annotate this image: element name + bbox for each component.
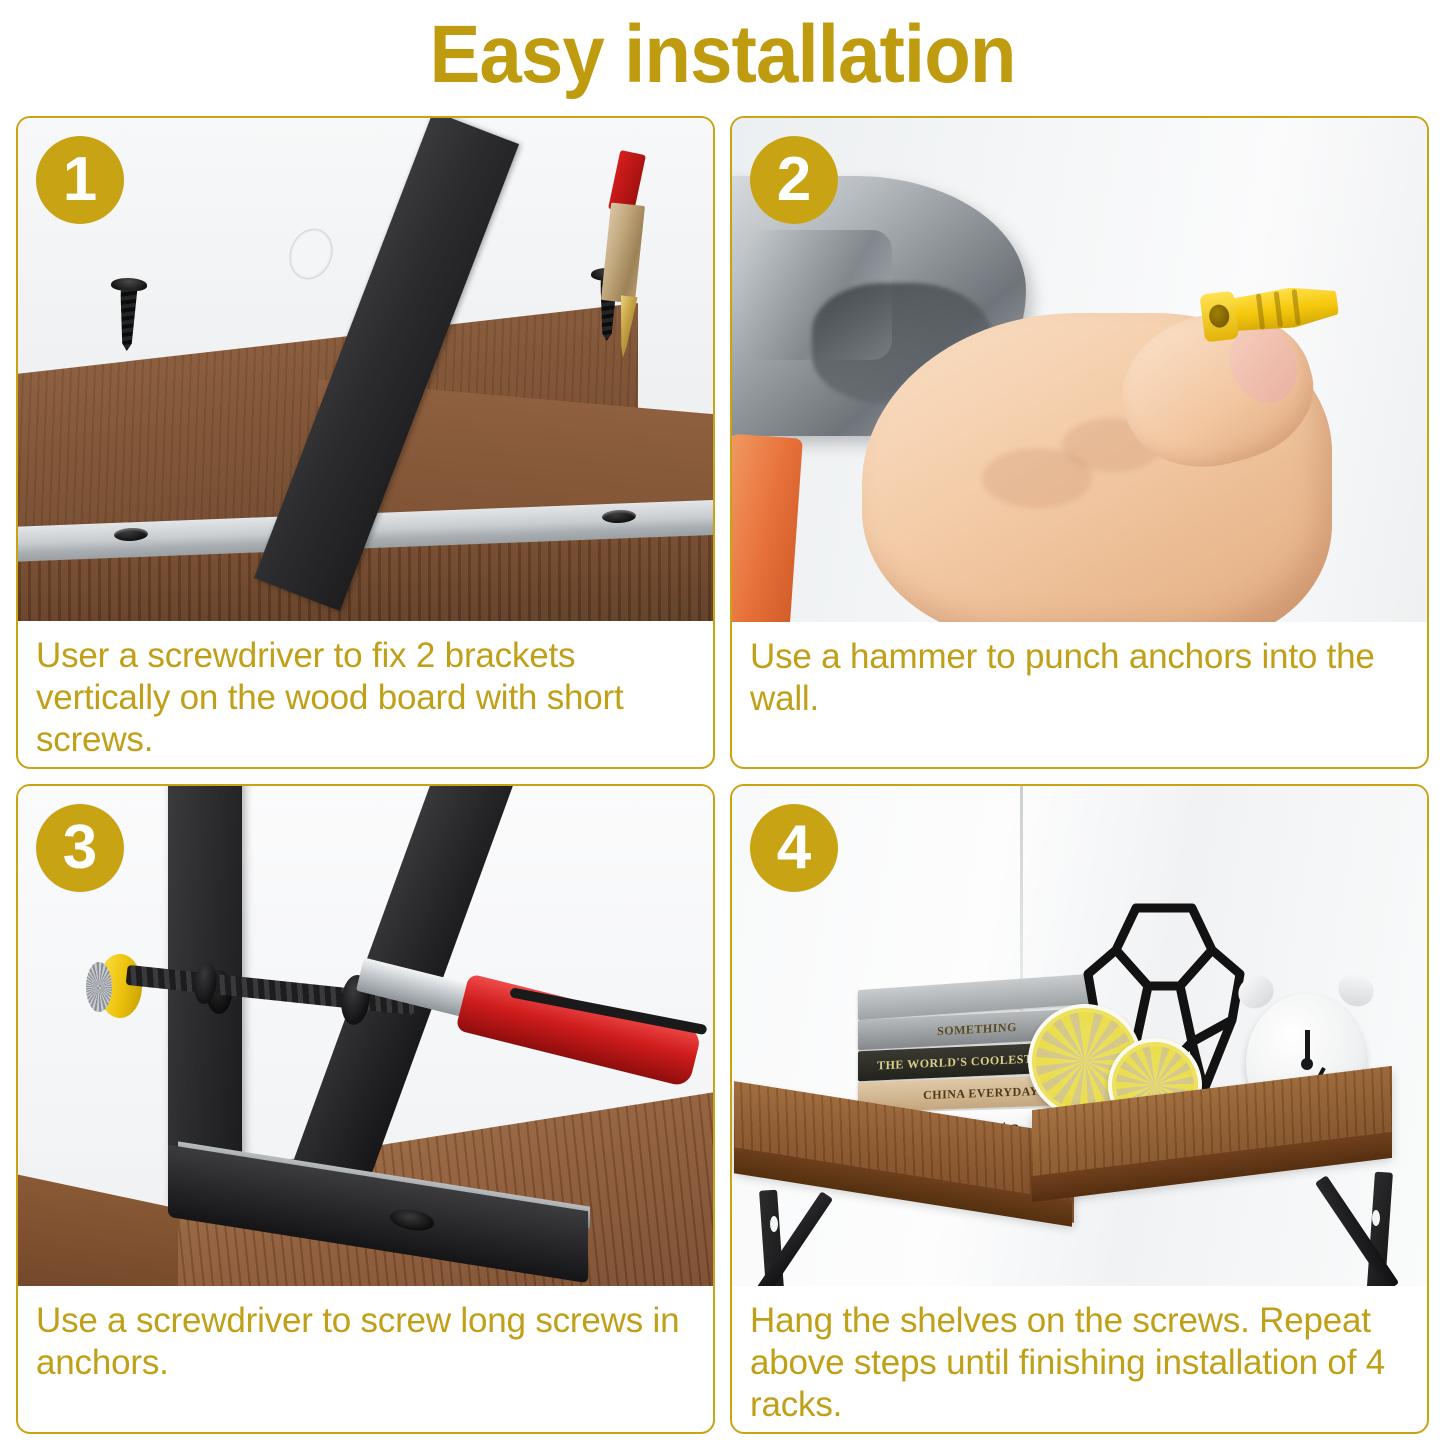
step-caption-2: Use a hammer to punch anchors into the w… [732,622,1427,767]
clock-pivot [1301,1058,1313,1070]
steps-grid: 1 User a screwdriver to fix 2 brackets v… [16,116,1429,1434]
step-badge-1: 1 [36,136,124,224]
step-badge-4: 4 [750,804,838,892]
step-4-photo: SOMETHING THE WORLD'S COOLEST HOTEL CHIN… [732,786,1427,1286]
bit-hex-shaft [601,202,645,303]
step-badge-2: 2 [750,136,838,224]
screw-shaft [118,289,137,352]
step-2-photo: 2 [732,118,1427,622]
bit-phillips-tip [612,295,640,359]
anchor-grip [86,962,112,1012]
screwdriver-bit [606,152,646,358]
step-caption-1: User a screwdriver to fix 2 brackets ver… [18,621,713,767]
step-badge-3: 3 [36,804,124,892]
book-title: CHINA EVERYDAY [923,1083,1039,1102]
step-panel-4: SOMETHING THE WORLD'S COOLEST HOTEL CHIN… [730,784,1429,1434]
page-title: Easy installation [51,0,1395,112]
short-screw-left [109,277,148,351]
screw-collar [192,961,218,1005]
step-panel-3: 3 Use a screwdriver to screw long screws… [16,784,715,1434]
step-panel-1: 1 User a screwdriver to fix 2 brackets v… [16,116,715,769]
book-title: SOMETHING [937,1019,1017,1038]
step-caption-3: Use a screwdriver to screw long screws i… [18,1286,713,1432]
step-caption-4: Hang the shelves on the screws. Repeat a… [732,1286,1427,1432]
step-1-photo: 1 [18,118,713,621]
step-3-photo: 3 [18,786,713,1286]
step-panel-2: 2 Use a hammer to punch anchors into the… [730,116,1429,769]
bracket-hole [770,1216,778,1232]
bracket-hole [1372,1210,1380,1226]
